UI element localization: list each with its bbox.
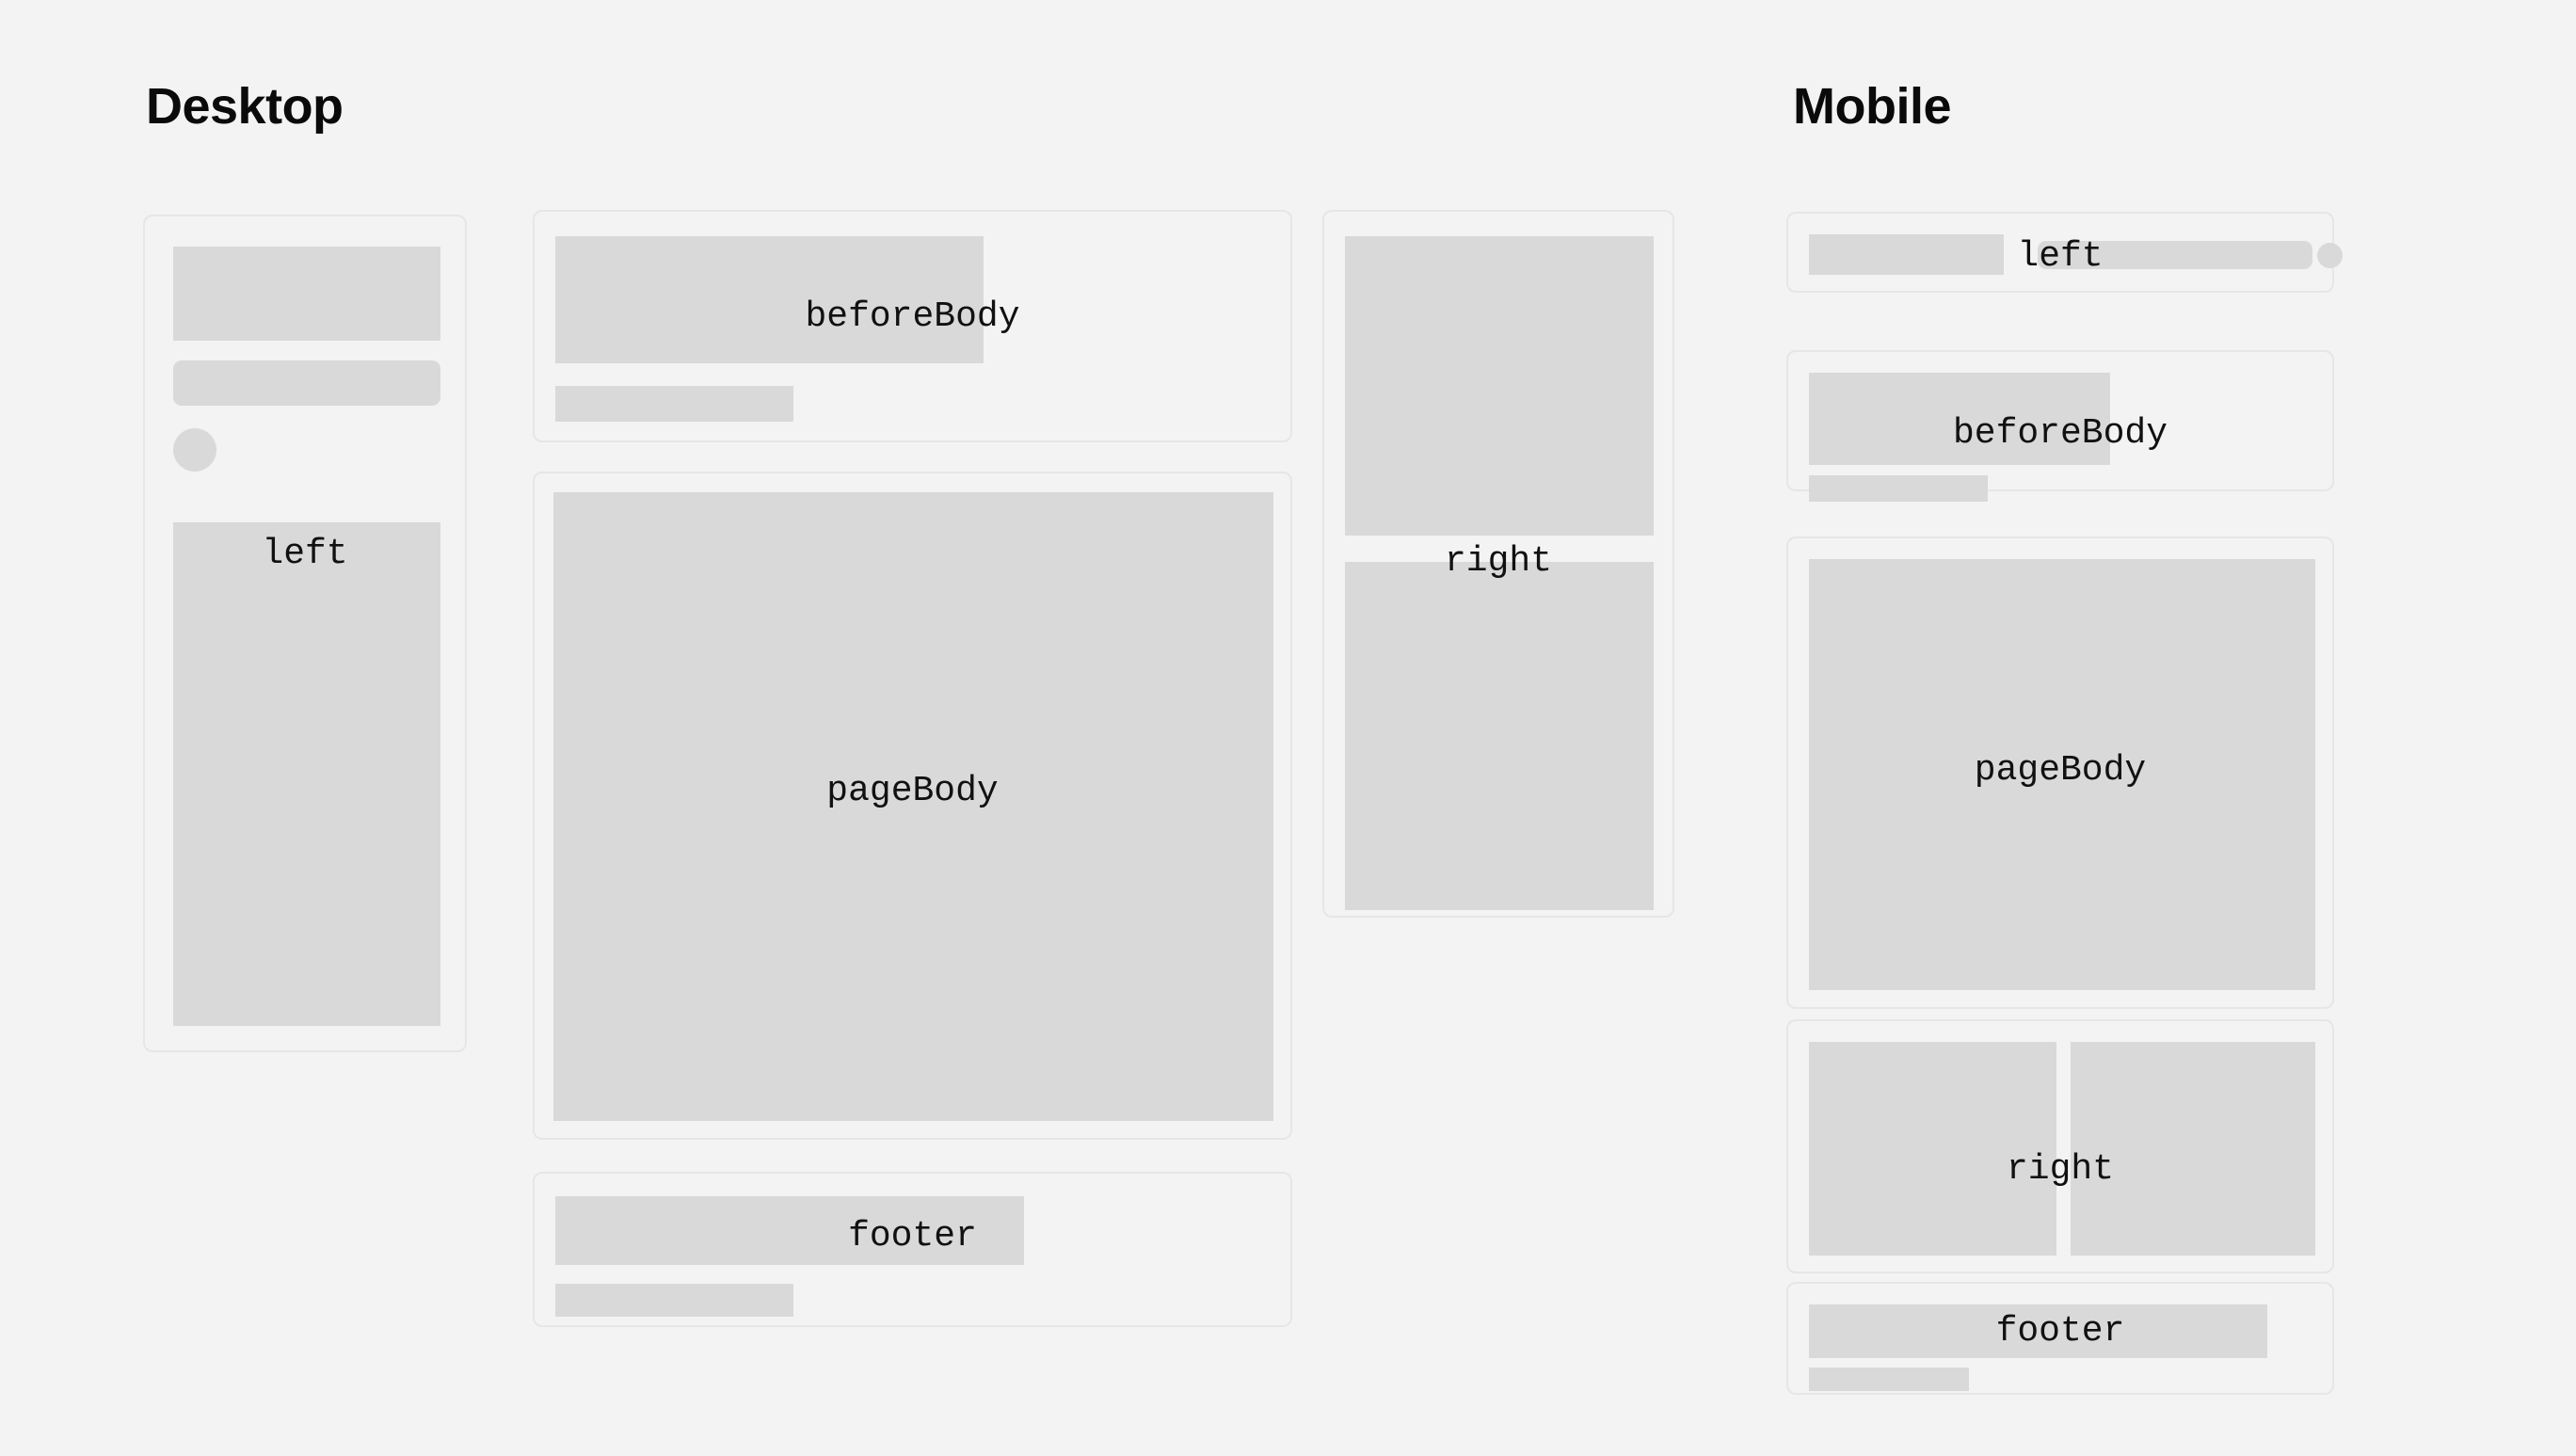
mobile-before-body-banner-placeholder (1809, 373, 2110, 465)
desktop-left-search-bar-placeholder (173, 360, 440, 406)
desktop-left-avatar-placeholder (173, 428, 216, 472)
mobile-panel-before-body[interactable] (1786, 350, 2334, 491)
mobile-left-avatar-placeholder (2317, 243, 2343, 268)
mobile-left-header-placeholder (1809, 234, 2004, 275)
desktop-page-body-content-placeholder (553, 492, 1273, 1121)
desktop-before-body-caption-placeholder (555, 386, 793, 422)
layout-comparison-canvas: Desktop Mobile left beforeBody pageBody … (0, 0, 2576, 1456)
desktop-panel-footer[interactable] (533, 1172, 1292, 1327)
mobile-right-widget-right-placeholder (2071, 1042, 2315, 1256)
desktop-section-heading: Desktop (146, 81, 344, 132)
desktop-left-header-placeholder (173, 247, 440, 341)
desktop-panel-left[interactable] (143, 215, 467, 1052)
mobile-panel-left[interactable] (1786, 212, 2334, 293)
desktop-panel-before-body[interactable] (533, 210, 1292, 442)
mobile-panel-page-body[interactable] (1786, 536, 2334, 1009)
mobile-page-body-content-placeholder (1809, 559, 2315, 990)
mobile-before-body-caption-placeholder (1809, 475, 1988, 502)
desktop-left-nav-column-placeholder (173, 522, 440, 1026)
mobile-left-search-bar-placeholder (2038, 241, 2312, 269)
mobile-footer-bar-placeholder (1809, 1304, 2267, 1358)
desktop-before-body-banner-placeholder (555, 236, 984, 363)
desktop-panel-right[interactable] (1322, 210, 1674, 918)
desktop-right-widget-top-placeholder (1345, 236, 1654, 536)
desktop-footer-caption-placeholder (555, 1284, 793, 1317)
mobile-right-widget-left-placeholder (1809, 1042, 2056, 1256)
desktop-footer-bar-placeholder (555, 1196, 1024, 1265)
desktop-right-widget-bottom-placeholder (1345, 562, 1654, 910)
mobile-panel-right[interactable] (1786, 1019, 2334, 1273)
mobile-section-heading: Mobile (1793, 81, 1951, 132)
mobile-footer-caption-placeholder (1809, 1368, 1969, 1391)
desktop-panel-page-body[interactable] (533, 472, 1292, 1140)
mobile-panel-footer[interactable] (1786, 1282, 2334, 1395)
